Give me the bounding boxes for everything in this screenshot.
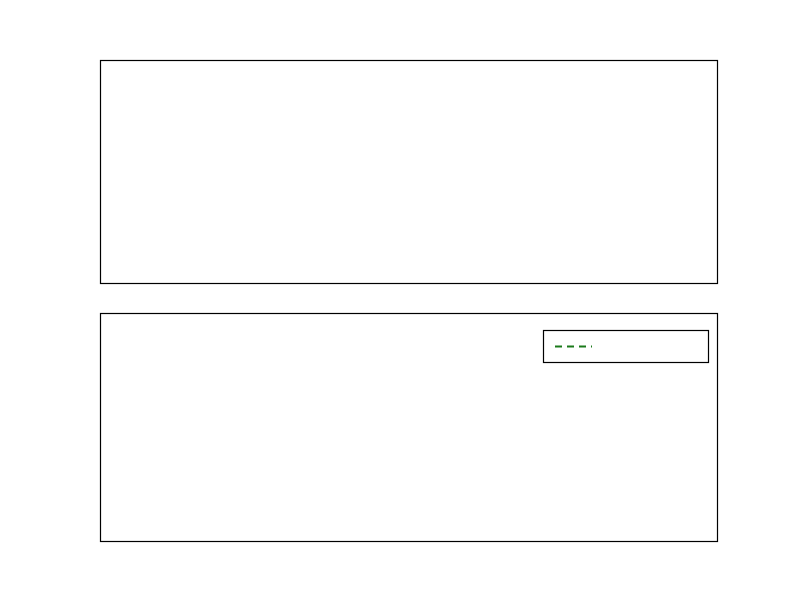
top-axes-frame [101, 61, 718, 284]
bottom-axes-cumulative-histogram [101, 314, 718, 542]
top-axes-differential-histogram [101, 61, 718, 284]
figure-canvas [0, 0, 800, 600]
legend[interactable] [544, 331, 709, 363]
matplotlib-figure [0, 0, 800, 600]
